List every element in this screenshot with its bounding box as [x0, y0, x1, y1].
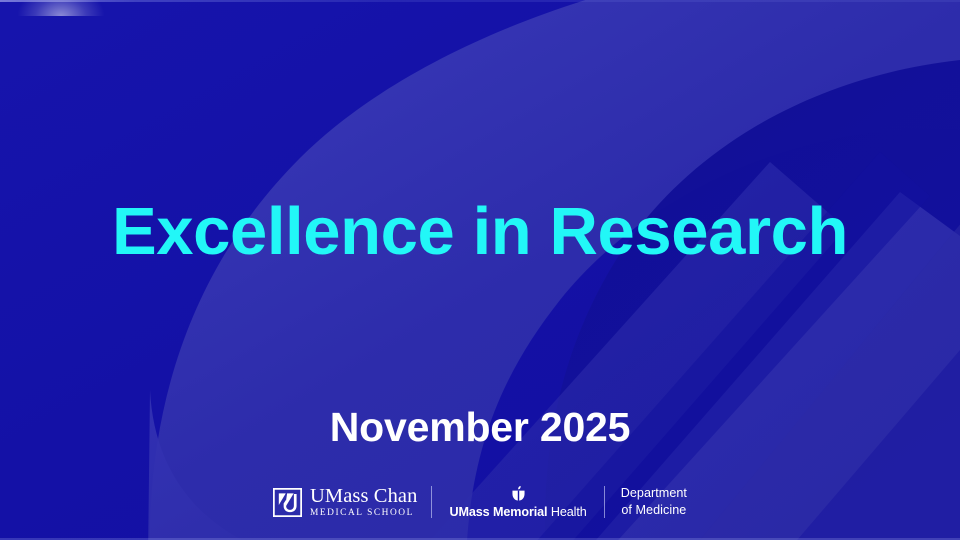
background-swoosh-graphic — [0, 0, 960, 540]
umass-chan-subname: MEDICAL SCHOOL — [310, 509, 417, 518]
slide-subtitle-date: November 2025 — [0, 405, 960, 449]
department-of-medicine-logo: Department of Medicine — [605, 485, 687, 518]
umass-memorial-name-light: Health — [551, 505, 587, 519]
umass-memorial-wordmark: UMass Memorial Health — [449, 505, 586, 519]
umass-memorial-health-logo: UMass Memorial Health — [432, 485, 603, 519]
umass-chan-wordmark: UMass Chan MEDICAL SCHOOL — [310, 486, 417, 519]
department-line-2: of Medicine — [621, 502, 686, 519]
umass-memorial-tulip-icon — [510, 485, 527, 502]
umass-memorial-name-bold: UMass Memorial — [449, 505, 547, 519]
department-line-1: Department — [621, 485, 687, 502]
logo-lockup-bar: UMass Chan MEDICAL SCHOOL UMass Memorial… — [0, 478, 960, 526]
umass-chan-logo: UMass Chan MEDICAL SCHOOL — [273, 486, 431, 519]
umass-chan-u-monogram-icon — [273, 488, 302, 517]
presentation-title-slide: Excellence in Research November 2025 UMa… — [0, 0, 960, 540]
umass-chan-name: UMass Chan — [310, 486, 417, 507]
slide-title: Excellence in Research — [0, 196, 960, 267]
